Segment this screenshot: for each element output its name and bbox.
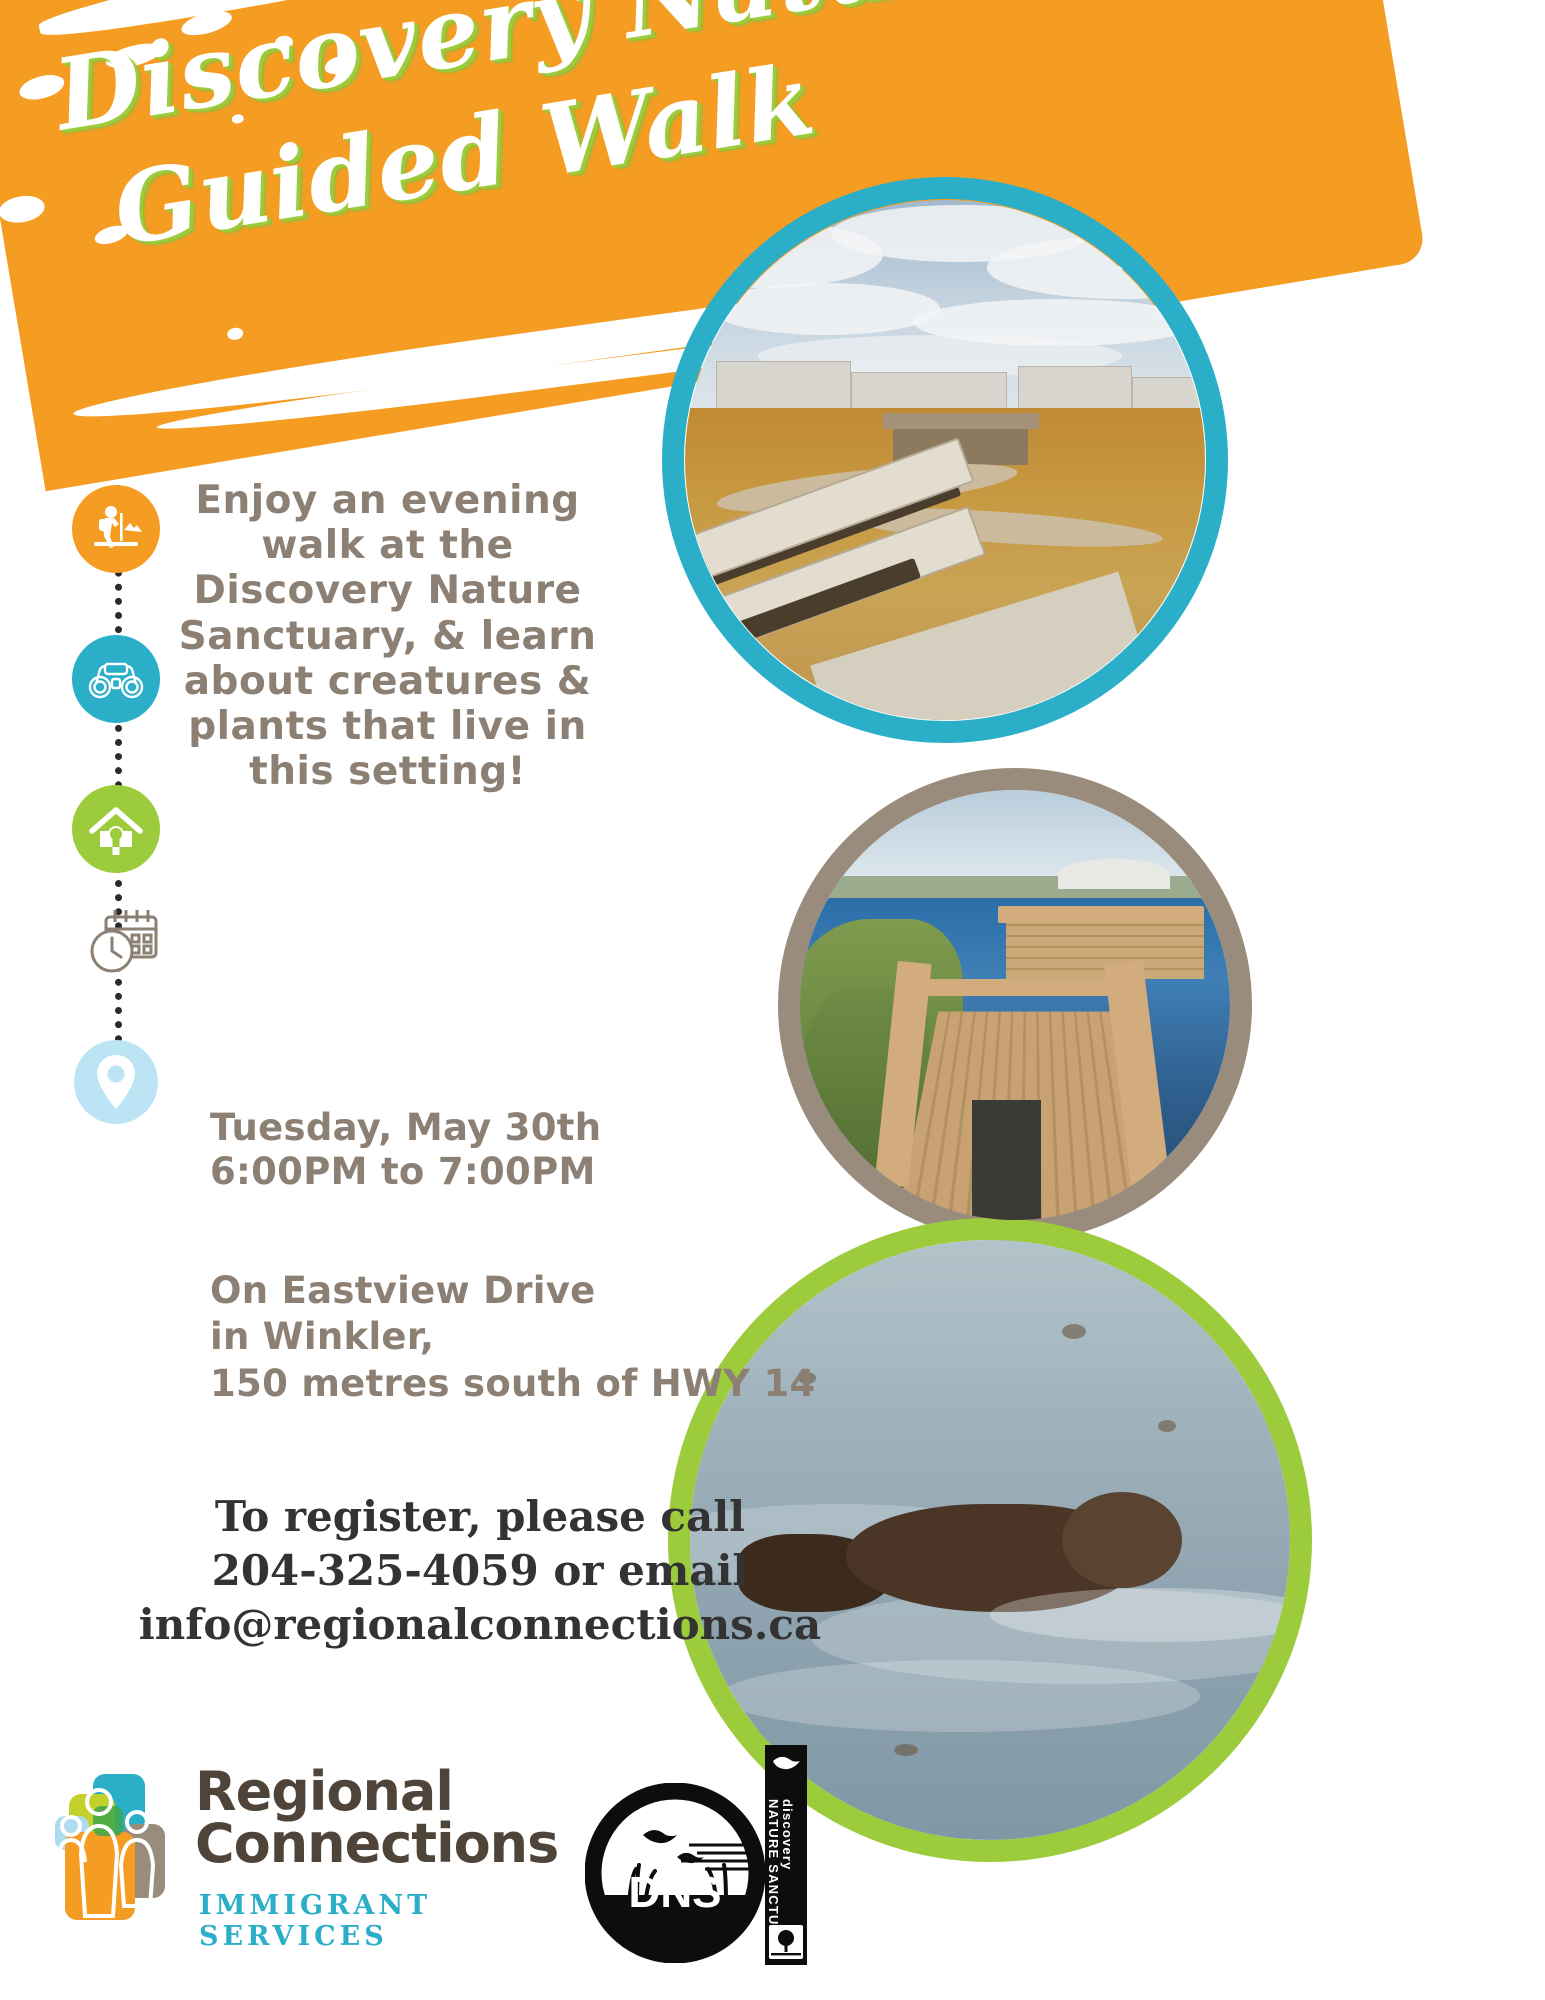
photo-debris — [1158, 1420, 1176, 1432]
registration-phone[interactable]: 204-325-4059 or email — [120, 1544, 840, 1598]
photo-boardwalk-shadow — [972, 1100, 1041, 1220]
event-date: Tuesday, May 30th — [210, 1106, 730, 1150]
location-pin-icon — [74, 1040, 158, 1124]
dns-bar-line-1: discovery — [780, 1799, 795, 1871]
event-location: On Eastview Drive in Winkler, 150 metres… — [210, 1268, 900, 1407]
photo-platform-rail — [998, 906, 1204, 923]
event-time: 6:00PM to 7:00PM — [210, 1150, 730, 1194]
event-datetime: Tuesday, May 30th 6:00PM to 7:00PM — [210, 1106, 730, 1195]
regional-connections-logo: Regional Connections IMMIGRANT SERVICES — [55, 1760, 575, 1950]
calendar-clock-icon — [82, 895, 174, 987]
icon-timeline — [72, 485, 162, 1085]
registration-line-1: To register, please call — [120, 1490, 840, 1544]
photo-debris — [1062, 1324, 1086, 1339]
regional-connections-mark — [55, 1766, 185, 1926]
photo-distant-building — [1058, 859, 1170, 889]
boardwalk-photo — [800, 790, 1230, 1220]
hiker-icon — [72, 485, 160, 573]
address-line-2: in Winkler, — [210, 1314, 900, 1360]
photo-beaver-head — [1062, 1492, 1182, 1588]
winkler-tree-icon — [769, 1925, 803, 1959]
photo-boardwalk-rail-top — [903, 979, 1144, 996]
binoculars-icon — [72, 635, 160, 723]
photo-ripple — [720, 1660, 1200, 1732]
address-line-3: 150 metres south of HWY 14 — [210, 1361, 900, 1407]
address-line-1: On Eastview Drive — [210, 1268, 900, 1314]
poster-canvas: Discovery Nature Sanctuary Guided Walk — [0, 0, 1545, 2000]
bird-icon — [765, 1751, 807, 1783]
dns-emblem-letters: DNS — [629, 1868, 722, 1917]
regional-connections-tagline: IMMIGRANT SERVICES — [199, 1890, 575, 1952]
dns-emblem-icon: DNS — [585, 1783, 765, 1963]
event-description: Enjoy an evening walk at the Discovery N… — [160, 478, 615, 795]
photo-debris — [894, 1744, 918, 1756]
logo-line-2: Connections — [195, 1818, 558, 1870]
discovery-nature-sanctuary-logo: DNS discovery NATURE SANCTUARY — [585, 1745, 860, 1975]
logo-line-1: Regional — [195, 1766, 558, 1818]
dns-vertical-bar: discovery NATURE SANCTUARY — [765, 1745, 807, 1965]
birdhouse-icon — [72, 785, 160, 873]
photo-shelter-roof — [883, 413, 1039, 429]
registration-info: To register, please call 204-325-4059 or… — [120, 1490, 840, 1651]
regional-connections-wordmark: Regional Connections — [195, 1766, 558, 1871]
registration-email[interactable]: info@regionalconnections.ca — [120, 1598, 840, 1652]
